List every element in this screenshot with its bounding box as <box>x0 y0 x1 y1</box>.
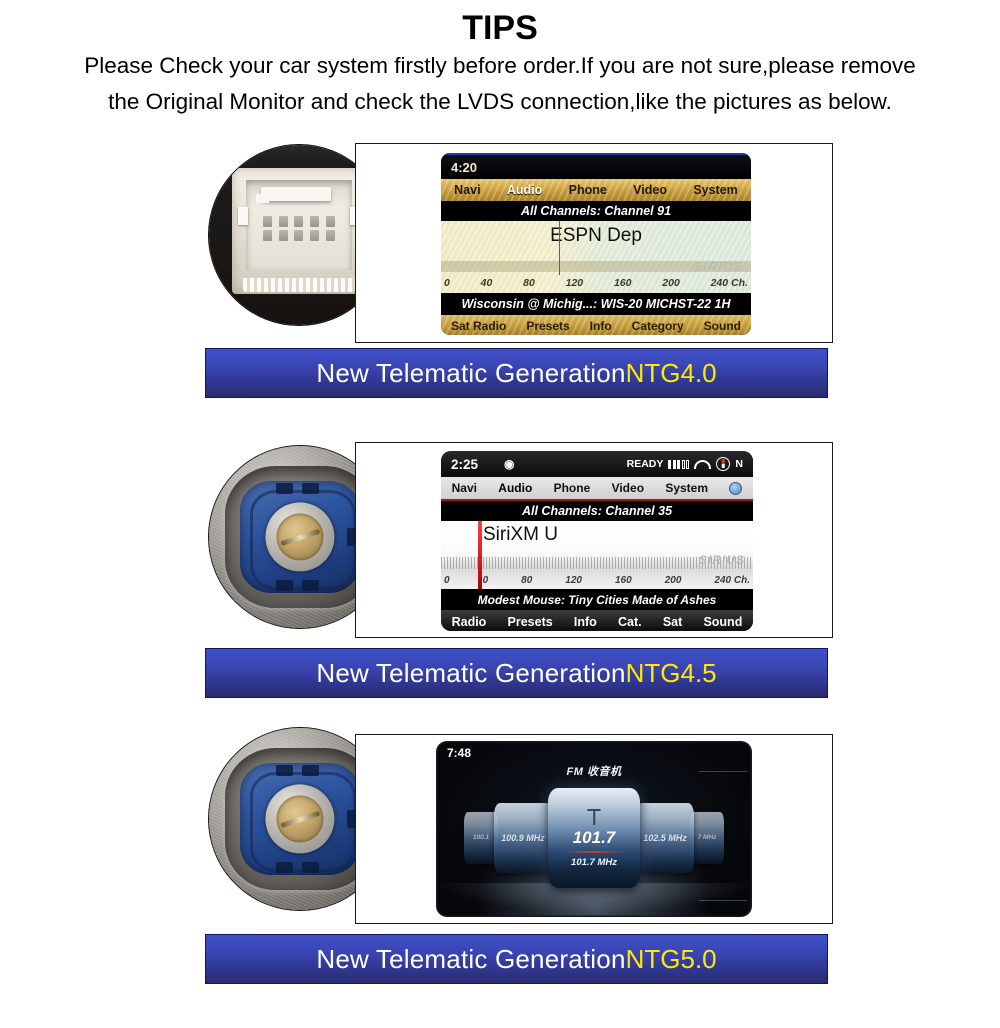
tips-line-2: the Original Monitor and check the LVDS … <box>0 84 1000 120</box>
ready-label: READY <box>627 458 664 470</box>
scale-tick-200: 200 <box>665 575 682 586</box>
tuner-needle[interactable] <box>559 221 561 275</box>
screen-frame-ntg40: 4:20 Navi Audio Phone Video System All C… <box>355 143 833 343</box>
sirius-logo: SIRIUS <box>694 259 743 274</box>
caption-code: NTG5.0 <box>626 944 717 975</box>
tuner-band[interactable]: SiriXM U SIRIUS 0 0 80 120 160 200 240 C… <box>441 521 753 589</box>
menu-item-system[interactable]: System <box>665 481 708 495</box>
caption-label: New Telematic Generation <box>316 358 625 389</box>
divider <box>563 851 625 853</box>
station-tile-1[interactable]: 100.1 <box>464 812 498 864</box>
page-title: TIPS <box>0 8 1000 48</box>
caption-label: New Telematic Generation <box>316 944 625 975</box>
softkey-category[interactable]: Category <box>632 319 684 333</box>
channel-line: All Channels: Channel 35 <box>441 501 753 521</box>
phone-handset-icon <box>694 460 711 469</box>
caption-bar-ntg40: New Telematic Generation NTG4.0 <box>205 348 828 398</box>
now-playing-line: Wisconsin @ Michig...: WIS-20 MICHST-22 … <box>441 293 751 315</box>
softkey-sound[interactable]: Sound <box>704 319 741 333</box>
scale-tick-160: 160 <box>614 277 632 289</box>
section-ntg45: 2:25 ◉ READY N Navi Audio Phone V <box>0 440 1000 645</box>
scale-tick-0: 0 <box>444 575 450 586</box>
station-name: ESPN Dep <box>441 225 751 247</box>
scale-tick-0: 0 <box>444 277 450 289</box>
station-name: SiriXM U <box>483 524 558 546</box>
signal-strength-icon <box>668 460 689 469</box>
menu-item-phone[interactable]: Phone <box>554 481 591 495</box>
screen-frame-ntg50: 7:48 FM 收音机 100.1 100.9 MHz 101.7 101.7 … <box>355 734 833 924</box>
tuner-band[interactable]: ESPN Dep SIRIUS 0 40 80 120 160 200 240 … <box>441 221 751 293</box>
softkey-info[interactable]: Info <box>574 615 597 629</box>
tuner-scale: 0 0 80 120 160 200 240 Ch. <box>441 573 753 588</box>
sirius-logo: SIRIUS <box>699 553 745 567</box>
menu-item-system[interactable]: System <box>693 183 737 197</box>
softkey-info[interactable]: Info <box>590 319 612 333</box>
station-tile-selected[interactable]: 101.7 101.7 MHz <box>548 788 640 888</box>
head-unit-screen-ntg50: 7:48 FM 收音机 100.1 100.9 MHz 101.7 101.7 … <box>436 741 752 917</box>
clock: 2:25 <box>451 457 478 472</box>
scale-tick-40: 0 <box>483 575 489 586</box>
floor-reflection <box>436 883 752 913</box>
scale-tick-240: 240 Ch. <box>714 575 750 586</box>
photo-row-ntg40: 4:20 Navi Audio Phone Video System All C… <box>0 140 1000 345</box>
section-ntg50: 7:48 FM 收音机 100.1 100.9 MHz 101.7 101.7 … <box>0 722 1000 927</box>
clock: 4:20 <box>451 160 477 175</box>
globe-icon[interactable] <box>729 482 742 495</box>
station-tile-2[interactable]: 100.9 MHz <box>494 803 552 873</box>
compass-icon <box>716 457 730 471</box>
caption-code: NTG4.5 <box>626 658 717 689</box>
caption-code: NTG4.0 <box>626 358 717 389</box>
station-tile-5[interactable]: 7 MHz <box>690 812 724 864</box>
photo-row-ntg45: 2:25 ◉ READY N Navi Audio Phone V <box>0 440 1000 645</box>
caption-label: New Telematic Generation <box>316 658 625 689</box>
menu-item-video[interactable]: Video <box>612 481 644 495</box>
soft-key-bar: Sat Radio Presets Info Category Sound <box>441 315 751 335</box>
softkey-sound[interactable]: Sound <box>703 615 742 629</box>
softkey-sat-radio[interactable]: Sat Radio <box>451 319 506 333</box>
channel-line: All Channels: Channel 91 <box>441 201 751 221</box>
scale-tick-120: 120 <box>566 277 584 289</box>
tips-line-1: Please Check your car system firstly bef… <box>0 48 1000 84</box>
station-frequency: 101.7 <box>573 828 616 848</box>
antenna-icon <box>587 807 601 825</box>
head-unit-screen-ntg45: 2:25 ◉ READY N Navi Audio Phone V <box>441 451 753 631</box>
menu-item-navi[interactable]: Navi <box>452 481 477 495</box>
heading-letter: N <box>735 458 743 470</box>
now-playing-line: Modest Mouse: Tiny Cities Made of Ashes <box>441 589 753 610</box>
scale-tick-160: 160 <box>615 575 632 586</box>
menu-bar: Navi Audio Phone Video System <box>441 179 751 201</box>
softkey-sat[interactable]: Sat <box>663 615 682 629</box>
status-bar: 2:25 ◉ READY N <box>441 451 753 477</box>
photo-row-ntg50: 7:48 FM 收音机 100.1 100.9 MHz 101.7 101.7 … <box>0 722 1000 927</box>
menu-item-navi[interactable]: Navi <box>454 183 480 197</box>
section-ntg40: 4:20 Navi Audio Phone Video System All C… <box>0 140 1000 345</box>
scale-tick-240: 240 Ch. <box>711 277 748 289</box>
screen-title: FM 收音机 <box>436 763 752 779</box>
softkey-radio[interactable]: Radio <box>452 615 487 629</box>
tuner-scale: 0 40 80 120 160 200 240 Ch. <box>441 275 751 291</box>
scale-tick-200: 200 <box>662 277 680 289</box>
status-bar: 4:20 <box>441 153 751 179</box>
clock: 7:48 <box>447 746 471 760</box>
scale-tick-80: 80 <box>523 277 535 289</box>
disc-icon: ◉ <box>504 457 514 471</box>
menu-item-audio[interactable]: Audio <box>498 481 532 495</box>
scale-tick-80: 80 <box>521 575 532 586</box>
menu-item-video[interactable]: Video <box>633 183 667 197</box>
station-frequency-sub: 101.7 MHz <box>571 857 617 868</box>
caption-bar-ntg45: New Telematic Generation NTG4.5 <box>205 648 828 698</box>
head-unit-screen-ntg40: 4:20 Navi Audio Phone Video System All C… <box>441 153 751 335</box>
menu-item-phone[interactable]: Phone <box>569 183 607 197</box>
softkey-presets[interactable]: Presets <box>508 615 553 629</box>
soft-key-bar: Radio Presets Info Cat. Sat Sound <box>441 610 753 631</box>
menu-item-audio[interactable]: Audio <box>507 183 542 197</box>
screen-frame-ntg45: 2:25 ◉ READY N Navi Audio Phone V <box>355 442 833 638</box>
tips-header: TIPS Please Check your car system firstl… <box>0 0 1000 120</box>
scale-tick-120: 120 <box>565 575 582 586</box>
caption-bar-ntg50: New Telematic Generation NTG5.0 <box>205 934 828 984</box>
softkey-presets[interactable]: Presets <box>526 319 569 333</box>
tuner-needle[interactable] <box>478 521 482 589</box>
menu-bar: Navi Audio Phone Video System <box>441 477 753 499</box>
scale-tick-40: 40 <box>481 277 493 289</box>
station-carousel[interactable]: 100.1 100.9 MHz 101.7 101.7 MHz 102.5 MH… <box>436 785 752 890</box>
station-tile-4[interactable]: 102.5 MHz <box>636 803 694 873</box>
softkey-cat[interactable]: Cat. <box>618 615 642 629</box>
